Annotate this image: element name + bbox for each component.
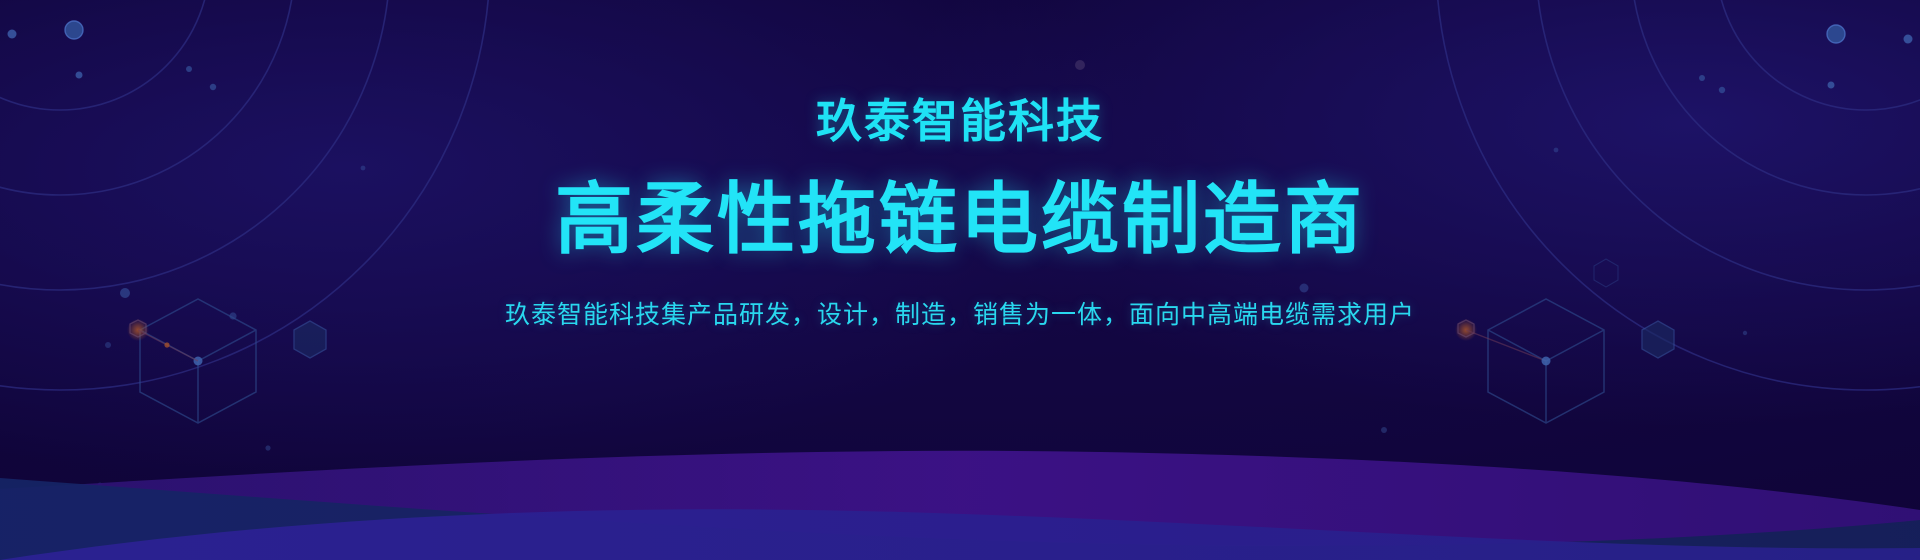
- banner-text-block: 玖泰智能科技 高柔性拖链电缆制造商 玖泰智能科技集产品研发，设计，制造，销售为一…: [0, 0, 1920, 560]
- page-title: 高柔性拖链电缆制造商: [555, 180, 1365, 258]
- banner-subtitle: 玖泰智能科技集产品研发，设计，制造，销售为一体，面向中高端电缆需求用户: [505, 300, 1415, 330]
- hero-banner: 玖泰智能科技 高柔性拖链电缆制造商 玖泰智能科技集产品研发，设计，制造，销售为一…: [0, 0, 1920, 560]
- brand-name: 玖泰智能科技: [816, 98, 1104, 144]
